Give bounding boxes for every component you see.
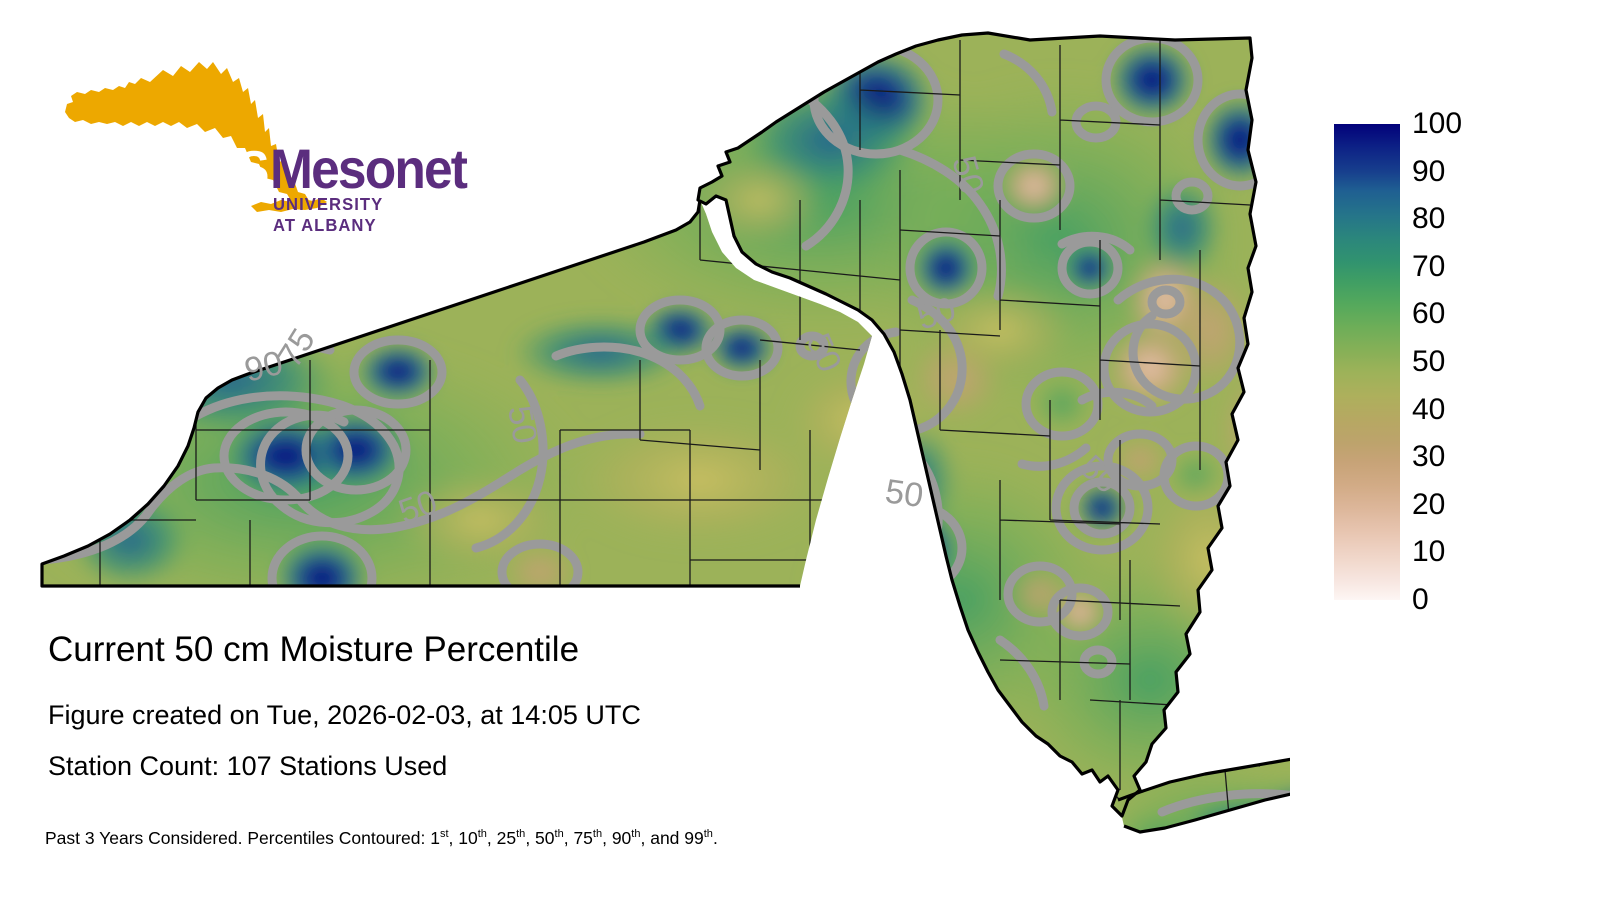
colorbar-gradient [1334, 124, 1400, 600]
created-timestamp: Figure created on Tue, 2026-02-03, at 14… [48, 700, 641, 731]
colorbar-tick-20: 20 [1412, 490, 1478, 520]
colorbar-tick-50: 50 [1412, 347, 1478, 377]
ordinal-suffix: th [516, 828, 525, 840]
colorbar-tick-60: 60 [1412, 299, 1478, 329]
colorbar-tick-100: 100 [1412, 109, 1478, 139]
colorbar-tick-30: 30 [1412, 442, 1478, 472]
colorbar-tick-80: 80 [1412, 204, 1478, 234]
colorbar-tick-70: 70 [1412, 252, 1478, 282]
footnote: Past 3 Years Considered. Percentiles Con… [45, 828, 718, 849]
ordinal-suffix: th [593, 828, 602, 840]
ordinal-suffix: th [555, 828, 564, 840]
colorbar-tick-10: 10 [1412, 537, 1478, 567]
ordinal-suffix: st [440, 828, 449, 840]
colorbar-tick-0: 0 [1412, 585, 1478, 615]
ordinal-suffix: th [478, 828, 487, 840]
page-title: Current 50 cm Moisture Percentile [48, 630, 579, 670]
contour-label-50: 50 [883, 472, 926, 515]
colorbar-tick-labels: 1009080706050403020100 [1412, 124, 1482, 600]
contour-label-50: 50 [500, 403, 544, 447]
ordinal-suffix: th [631, 828, 640, 840]
station-count: Station Count: 107 Stations Used [48, 751, 447, 782]
ordinal-suffix: th [704, 828, 713, 840]
colorbar-tick-90: 90 [1412, 157, 1478, 187]
colorbar-tick-40: 40 [1412, 395, 1478, 425]
colorbar [1334, 124, 1400, 600]
